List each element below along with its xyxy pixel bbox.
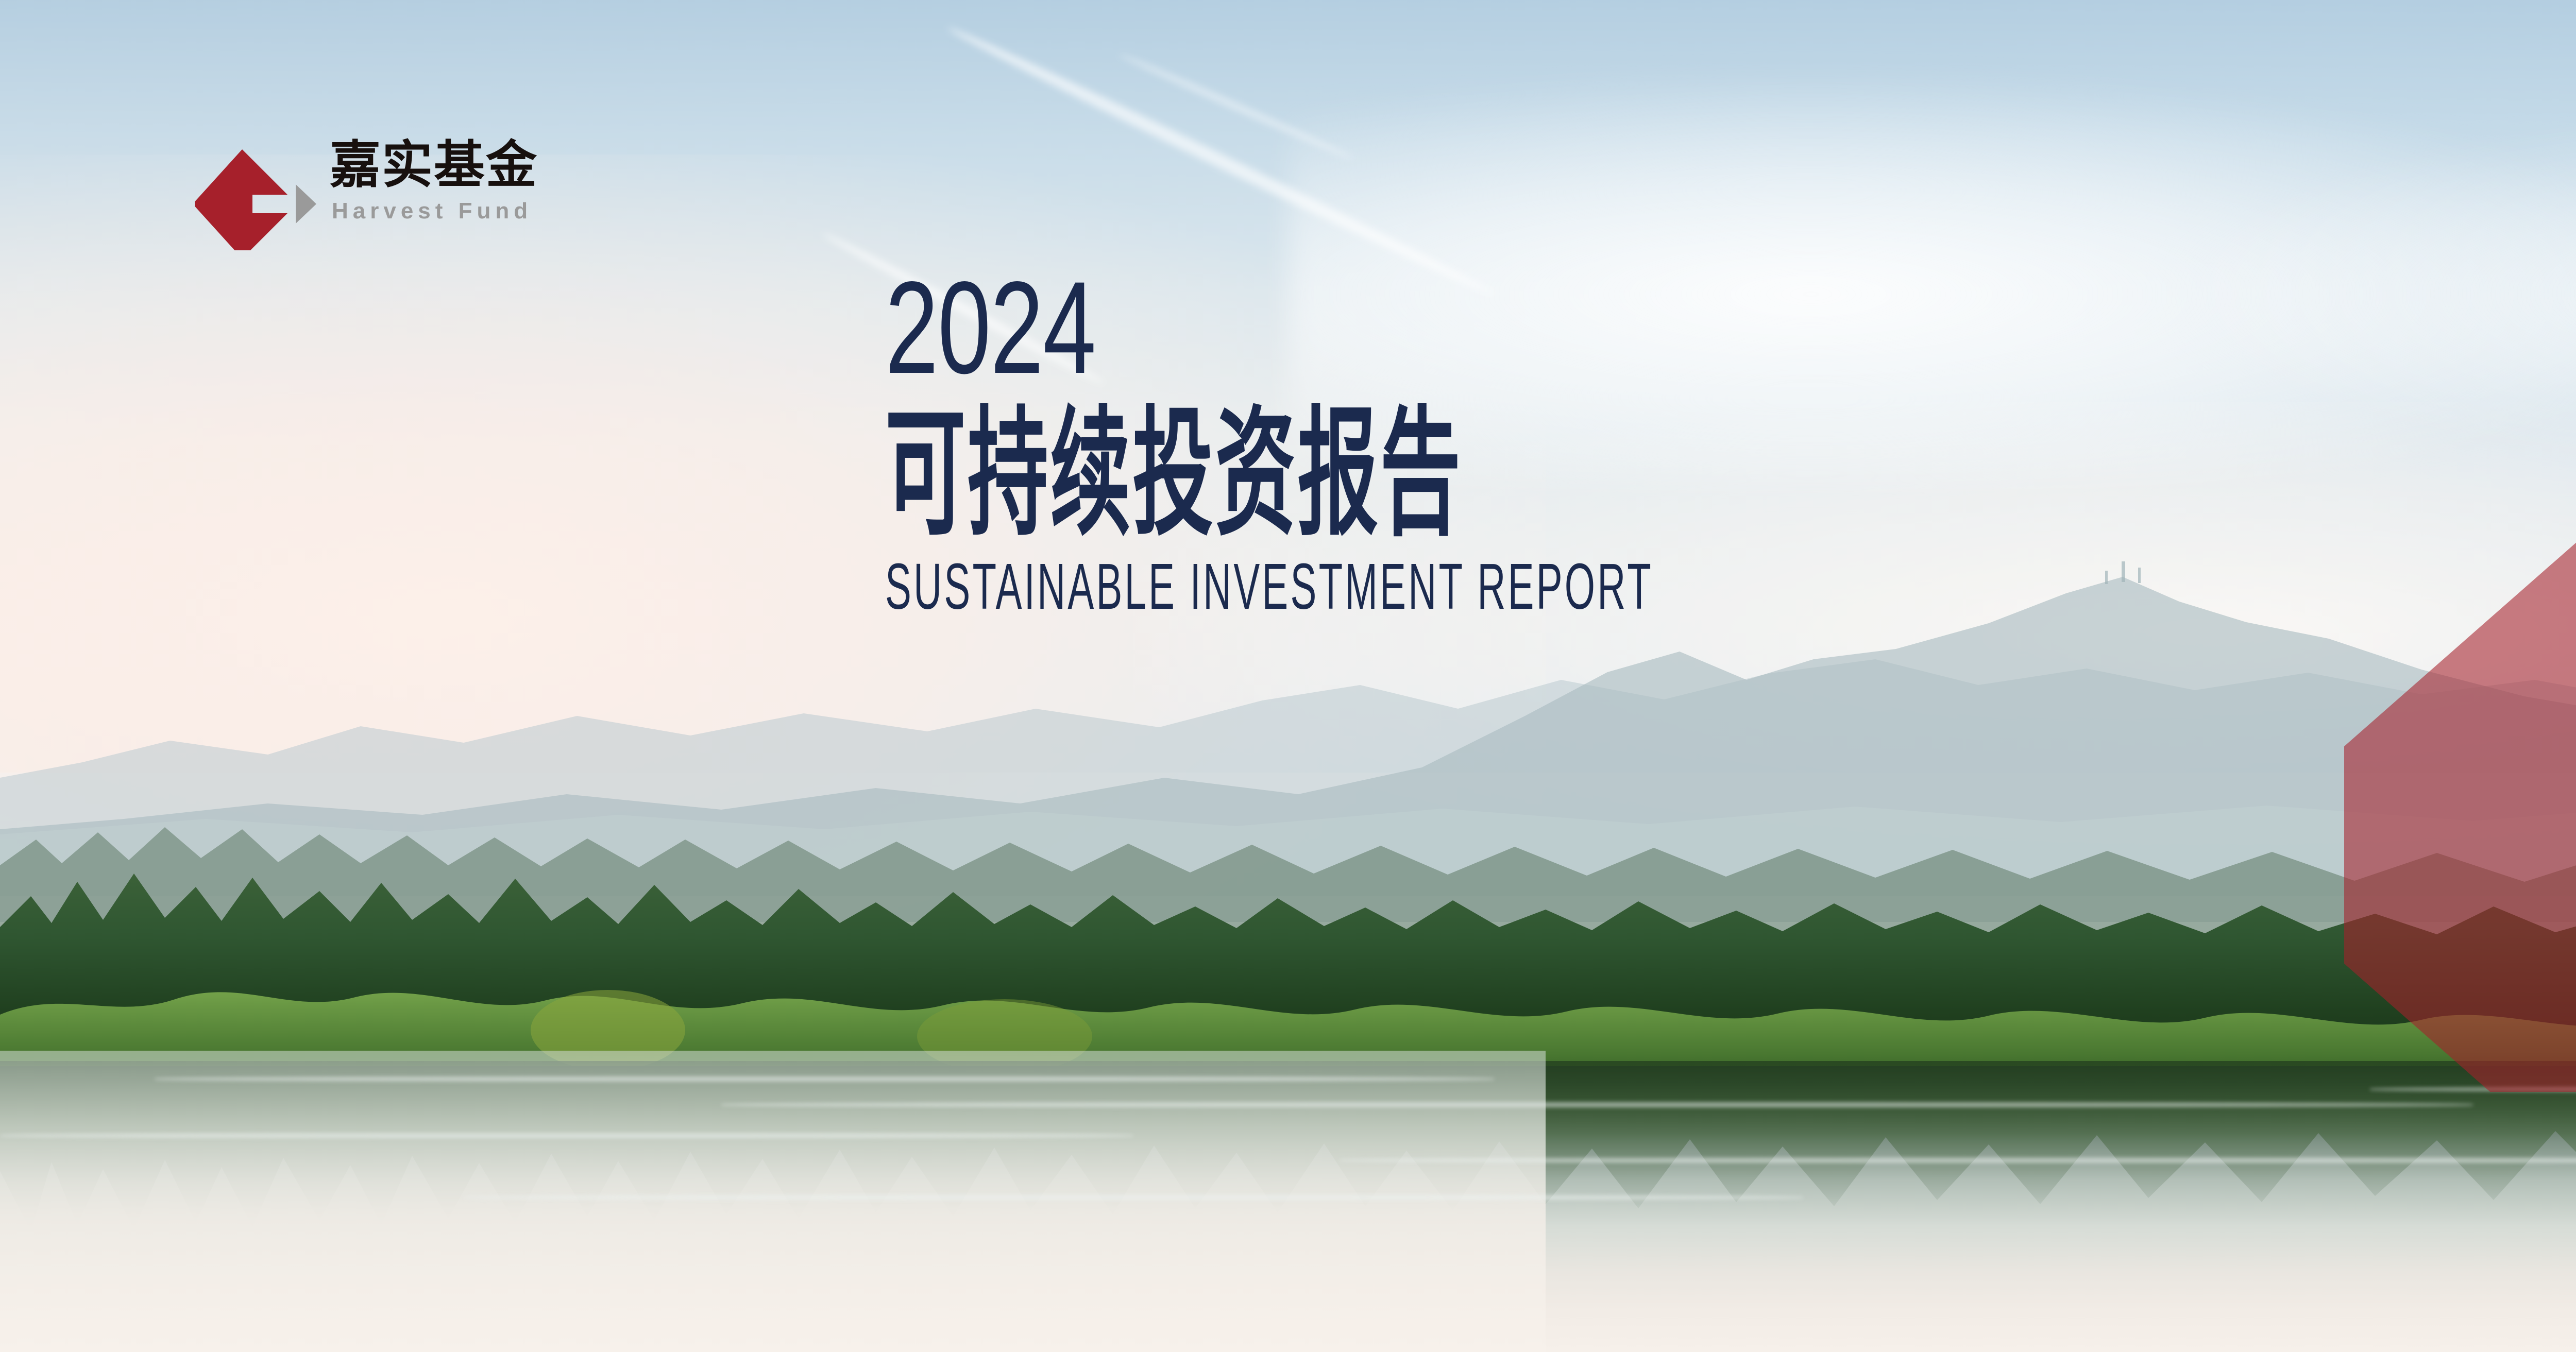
water-ripple	[155, 1076, 1494, 1082]
report-year: 2024	[885, 268, 1812, 389]
harvest-diamond-watermark	[2344, 216, 2576, 1143]
water-ripple	[464, 1195, 1803, 1200]
cover-title-block: 2024 可持续投资报告 SUSTAINABLE INVESTMENT REPO…	[885, 268, 2155, 619]
cover-page: 嘉实基金 Harvest Fund 2024 可持续投资报告 SUSTAINAB…	[0, 0, 2576, 1352]
watermark-diamond-shape	[2344, 258, 2576, 1143]
report-title-cn: 可持续投资报告	[885, 401, 1621, 547]
water-left-haze	[0, 1051, 1546, 1352]
water-ripple	[0, 1133, 1133, 1138]
harvest-diamond-icon	[195, 147, 324, 250]
brand-logo[interactable]: 嘉实基金 Harvest Fund	[195, 135, 689, 264]
report-title-en: SUSTAINABLE INVESTMENT REPORT	[885, 554, 1653, 619]
logo-company-name-cn: 嘉实基金	[330, 139, 538, 190]
logo-company-name-en: Harvest Fund	[332, 200, 532, 223]
water-ripple	[1340, 1158, 2576, 1163]
water-ripple	[721, 1102, 2473, 1107]
